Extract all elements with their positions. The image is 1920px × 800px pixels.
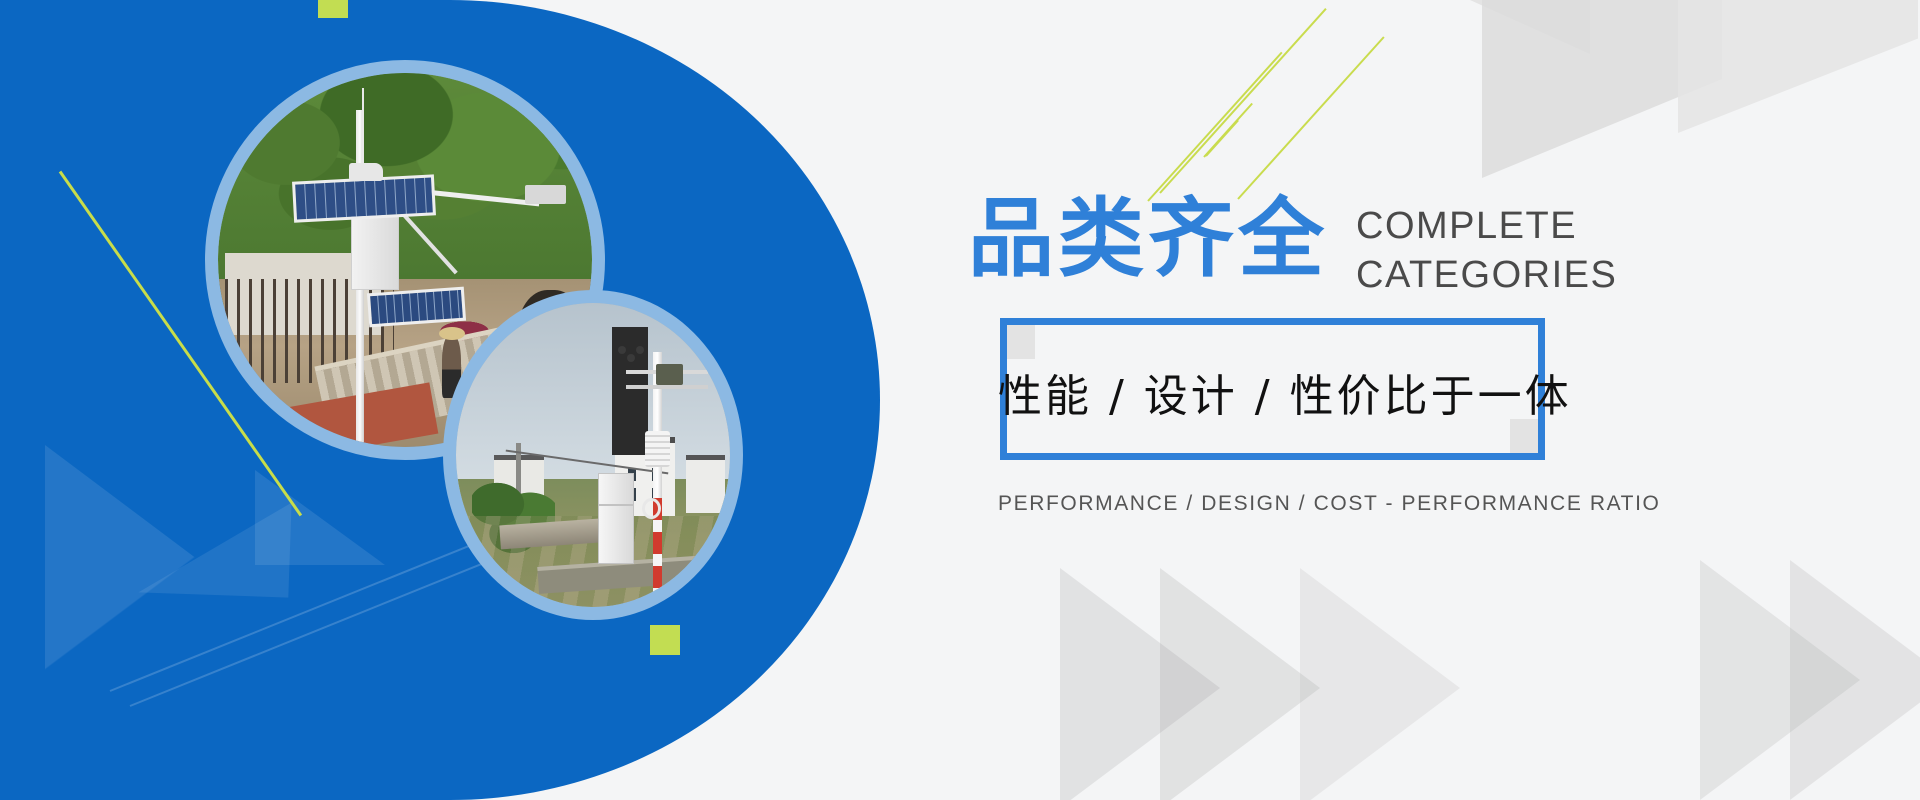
headline-english: COMPLETE CATEGORIES [1356,202,1617,301]
green-square-bottom-icon [650,625,680,655]
photo1-lamp-head [525,185,566,204]
photo1-control-box [351,215,400,290]
headline-english-line1: COMPLETE [1356,202,1617,251]
subtitle-chinese: 性能 / 设计 / 性价比于一体 [998,360,1572,424]
headline-chinese: 品类齐全 [968,196,1328,282]
promo-banner: 品类齐全 COMPLETE CATEGORIES 性能 / 设计 / 性价比于一… [0,0,1920,800]
headline-row: 品类齐全 COMPLETE CATEGORIES [968,196,1617,301]
photo2-house-right [686,455,724,513]
photo1-solar-panel-upper [292,174,436,223]
photo2-anemometer-icon [618,346,644,358]
banner-content: 品类齐全 COMPLETE CATEGORIES 性能 / 设计 / 性价比于一… [968,0,1868,800]
photo2-crossarm-lower [626,385,708,389]
tagline-english: PERFORMANCE / DESIGN / COST - PERFORMANC… [998,492,1660,516]
photo2-radiation-shield [645,431,670,467]
photo2-sensor-box [656,364,683,385]
frame-corner-mark-top-left [1007,325,1035,359]
photo1-solar-panel-lower [367,287,466,327]
photo-circle-weather-station [443,290,743,620]
photo1-camera [349,163,383,182]
frame-corner-mark-bottom-right [1510,419,1538,453]
photo2-control-cabinet [598,473,634,564]
headline-english-line2: CATEGORIES [1356,251,1617,300]
photo1-antenna [362,88,364,170]
decor-triangle-b [255,470,385,565]
green-square-top-icon [318,0,348,18]
